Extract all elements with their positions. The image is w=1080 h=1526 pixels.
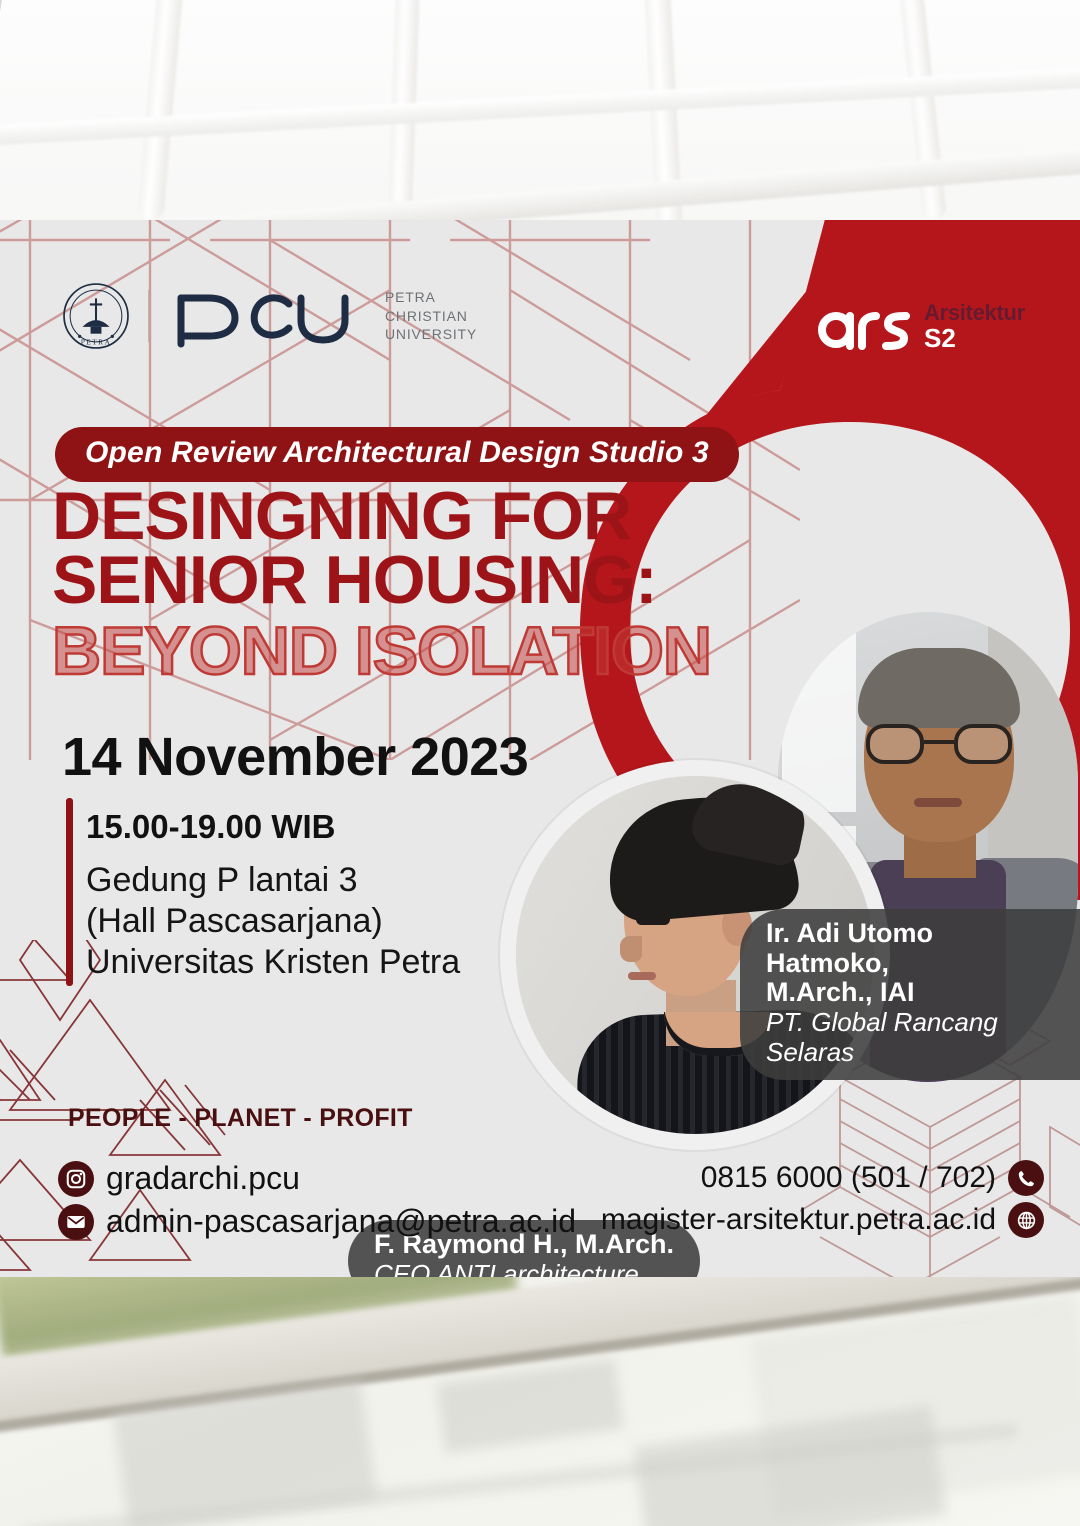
petra-university-seal-icon: PETRA [62, 282, 130, 350]
ceiling-photo [0, 0, 1080, 232]
event-date: 14 November 2023 [62, 726, 528, 788]
email-address: admin-pascasarjana@petra.ac.id [106, 1203, 576, 1240]
title-line-1: DESINGNING FOR [52, 485, 692, 549]
page-title: DESINGNING FOR SENIOR HOUSING: BEYOND IS… [52, 485, 692, 685]
ars-label: Arsitektur [924, 302, 1025, 324]
globe-icon [1008, 1202, 1044, 1238]
email-icon [58, 1204, 94, 1240]
venue-line-2: (Hall Pascasarjana) [86, 901, 460, 942]
instagram-contact[interactable]: gradarchi.pcu [58, 1160, 576, 1197]
ars-logo-lockup: Arsitektur S2 [818, 302, 1025, 354]
pcu-subtext: PETRA CHRISTIAN UNIVERSITY [385, 288, 477, 343]
ars-level: S2 [924, 324, 1025, 354]
website-url: magister-arsitektur.petra.ac.id [601, 1203, 996, 1237]
phone-contact[interactable]: 0815 6000 (501 / 702) [601, 1160, 1044, 1196]
instagram-icon [58, 1161, 94, 1197]
website-contact[interactable]: magister-arsitektur.petra.ac.id [601, 1202, 1044, 1238]
event-subtitle-ribbon: Open Review Architectural Design Studio … [55, 427, 739, 482]
pcu-logo-lockup: PETRA PETRA CHRISTIAN UNIVERSITY [62, 282, 477, 350]
speaker-1-nameplate: Ir. Adi Utomo Hatmoko, M.Arch., IAI PT. … [740, 909, 1080, 1080]
accent-bar [66, 798, 73, 986]
pcu-sub-line3: UNIVERSITY [385, 325, 477, 343]
email-contact[interactable]: admin-pascasarjana@petra.ac.id [58, 1203, 576, 1240]
phone-number: 0815 6000 (501 / 702) [701, 1161, 996, 1195]
venue-line-3: Universitas Kristen Petra [86, 942, 460, 983]
event-time: 15.00-19.00 WIB [86, 808, 335, 846]
svg-text:PETRA: PETRA [81, 338, 111, 347]
contacts-right-group: 0815 6000 (501 / 702) magister-arsitektu… [601, 1160, 1044, 1244]
event-venue: Gedung P lantai 3 (Hall Pascasarjana) Un… [86, 860, 460, 983]
phone-icon [1008, 1160, 1044, 1196]
tagline: PEOPLE - PLANET - PROFIT [68, 1104, 413, 1133]
walkway-photo [0, 1276, 1080, 1526]
instagram-handle: gradarchi.pcu [106, 1160, 300, 1197]
ars-wordmark-icon [818, 302, 910, 354]
pcu-sub-line2: CHRISTIAN [385, 307, 477, 325]
venue-line-1: Gedung P lantai 3 [86, 860, 460, 901]
speaker-2-affiliation: CEO ANTI architecture [374, 1260, 674, 1277]
pcu-wordmark-icon [171, 284, 371, 348]
speaker-1-name-line-1: Ir. Adi Utomo Hatmoko, [766, 919, 1060, 978]
title-line-2: SENIOR HOUSING: [52, 549, 692, 613]
speaker-1-affiliation: PT. Global Rancang Selaras [766, 1008, 1060, 1068]
logo-divider [148, 290, 149, 342]
speaker-1-name-line-2: M.Arch., IAI [766, 978, 1060, 1008]
contacts-left-group: gradarchi.pcu admin-pascasarjana@petra.a… [58, 1160, 576, 1246]
poster-card: PETRA PETRA CHRISTIAN UNIVERSITY [0, 220, 1080, 1277]
title-line-3: BEYOND ISOLATION [52, 617, 692, 685]
pcu-sub-line1: PETRA [385, 288, 477, 306]
